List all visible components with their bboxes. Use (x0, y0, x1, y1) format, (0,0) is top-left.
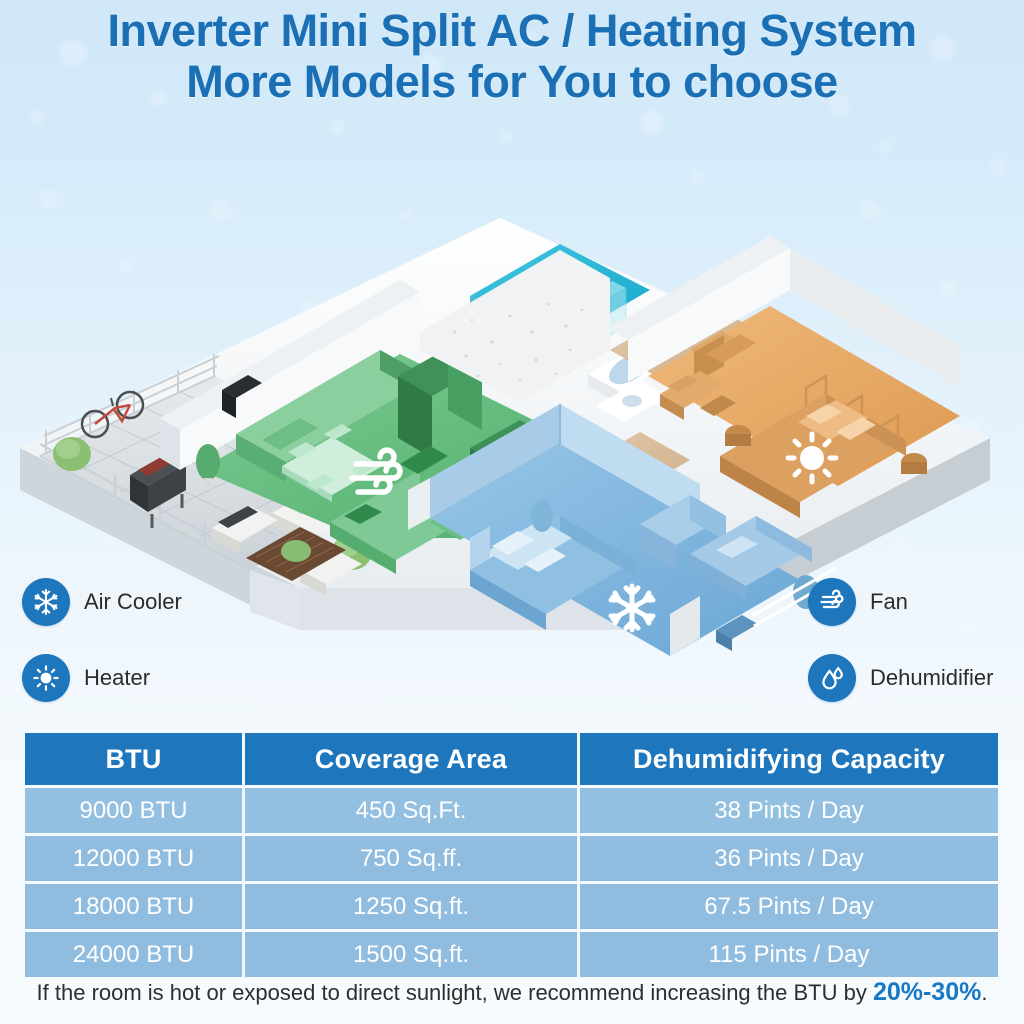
footnote-highlight: 20%-30% (873, 978, 981, 1006)
nightstand (725, 425, 751, 446)
cell-coverage: 450 Sq.Ft. (245, 788, 580, 833)
table-header-dehumidifying-capacity: Dehumidifying Capacity (580, 733, 998, 785)
cell-coverage: 1500 Sq.ft. (245, 932, 580, 977)
table-header-row: BTU Coverage Area Dehumidifying Capacity (25, 733, 998, 785)
cell-btu: 18000 BTU (25, 884, 245, 929)
table-header-coverage-area: Coverage Area (245, 733, 580, 785)
legend-label: Fan (870, 589, 908, 615)
table-row: 9000 BTU 450 Sq.Ft. 38 Pints / Day (25, 788, 998, 833)
cell-dehumidifying: 36 Pints / Day (580, 836, 998, 881)
cell-dehumidifying: 67.5 Pints / Day (580, 884, 998, 929)
page-title: Inverter Mini Split AC / Heating System … (0, 8, 1024, 106)
table-row: 18000 BTU 1250 Sq.ft. 67.5 Pints / Day (25, 884, 998, 929)
legend-label: Air Cooler (84, 589, 182, 615)
cell-dehumidifying: 38 Pints / Day (580, 788, 998, 833)
footnote-text-end: . (981, 980, 987, 1005)
cell-btu: 12000 BTU (25, 836, 245, 881)
snowflake-icon (22, 578, 70, 626)
legend-item-dehumidifier: Dehumidifier (808, 654, 994, 702)
legend-item-fan: Fan (808, 578, 994, 626)
water-drop-icon (808, 654, 856, 702)
table-row: 24000 BTU 1500 Sq.ft. 115 Pints / Day (25, 932, 998, 977)
table-header-btu: BTU (25, 733, 245, 785)
legend-right: Fan Dehumidifier (808, 578, 994, 702)
btu-recommendation-note: If the room is hot or exposed to direct … (0, 978, 1024, 1007)
legend-left: Air Cooler Heater (22, 578, 182, 702)
cell-dehumidifying: 115 Pints / Day (580, 932, 998, 977)
title-line-1: Inverter Mini Split AC / Heating System (0, 8, 1024, 55)
sun-icon (22, 654, 70, 702)
legend-label: Heater (84, 665, 150, 691)
shrub (53, 437, 91, 471)
cell-coverage: 750 Sq.ff. (245, 836, 580, 881)
sun-icon (788, 434, 836, 482)
legend-label: Dehumidifier (870, 665, 994, 691)
legend-item-heater: Heater (22, 654, 182, 702)
legend-item-air-cooler: Air Cooler (22, 578, 182, 626)
footnote-text: If the room is hot or exposed to direct … (37, 980, 873, 1005)
cell-btu: 9000 BTU (25, 788, 245, 833)
nightstand (901, 453, 927, 474)
plant (531, 500, 553, 532)
table-row: 12000 BTU 750 Sq.ff. 36 Pints / Day (25, 836, 998, 881)
cell-btu: 24000 BTU (25, 932, 245, 977)
fan-icon (808, 578, 856, 626)
cell-coverage: 1250 Sq.ft. (245, 884, 580, 929)
btu-specification-table: BTU Coverage Area Dehumidifying Capacity… (25, 733, 998, 977)
title-line-2: More Models for You to choose (0, 59, 1024, 106)
table-body: 9000 BTU 450 Sq.Ft. 38 Pints / Day 12000… (25, 788, 998, 977)
